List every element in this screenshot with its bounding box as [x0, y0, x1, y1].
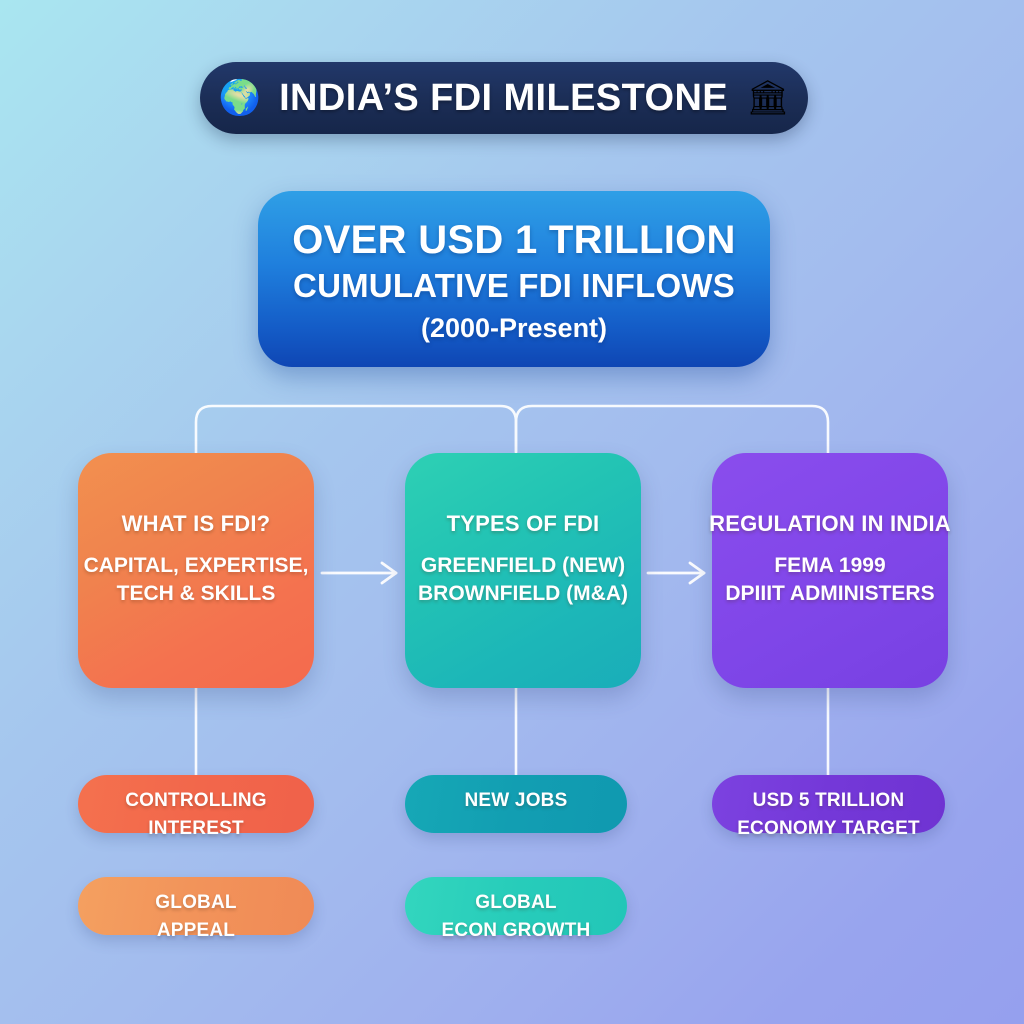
classical-building-icon: 🏛: [746, 81, 789, 115]
card-what-is-fdi[interactable]: WHAT IS FDI? CAPITAL, EXPERTISE, TECH & …: [78, 453, 314, 688]
card-body-line-1: FEMA 1999: [725, 552, 934, 580]
pill-label: GLOBAL APPEAL: [155, 889, 236, 944]
page-title: INDIA’S FDI MILESTONE: [279, 77, 728, 120]
card-body-line-2: TECH & SKILLS: [84, 580, 309, 608]
pill-controlling-interest[interactable]: CONTROLLING INTEREST: [78, 775, 314, 833]
pill-label: USD 5 TRILLION ECONOMY TARGET: [737, 787, 920, 842]
hero-statistic-card: OVER USD 1 TRILLION CUMULATIVE FDI INFLO…: [258, 191, 770, 367]
pill-new-jobs[interactable]: NEW JOBS: [405, 775, 627, 833]
pill-label: NEW JOBS: [465, 787, 568, 815]
card-body-line-1: GREENFIELD (NEW): [418, 552, 628, 580]
title-banner: 🌍 INDIA’S FDI MILESTONE 🏛: [200, 62, 808, 134]
fdi-infographic: 🌍 INDIA’S FDI MILESTONE 🏛 OVER USD 1 TRI…: [0, 0, 1024, 1024]
arrow-teal-to-purple: [648, 563, 704, 583]
card-body: CAPITAL, EXPERTISE, TECH & SKILLS: [84, 552, 309, 608]
pill-label-line-1: GLOBAL: [155, 889, 236, 917]
pill-label-line-1: USD 5 TRILLION: [737, 787, 920, 815]
card-body: FEMA 1999 DPIIIT ADMINISTERS: [725, 552, 934, 608]
card-title: REGULATION IN INDIA: [709, 511, 951, 536]
card-body-line-2: DPIIIT ADMINISTERS: [725, 580, 934, 608]
pill-label: GLOBAL ECON GROWTH: [442, 889, 591, 944]
pill-label-line-1: CONTROLLING: [125, 787, 267, 815]
card-body: GREENFIELD (NEW) BROWNFIELD (M&A): [418, 552, 628, 608]
pill-label-line-2: ECONOMY TARGET: [737, 815, 920, 843]
card-title: WHAT IS FDI?: [122, 511, 271, 536]
pill-label-line-2: APPEAL: [155, 917, 236, 945]
pill-label-line-1: NEW JOBS: [465, 787, 568, 815]
card-regulation-in-india[interactable]: REGULATION IN INDIA FEMA 1999 DPIIIT ADM…: [712, 453, 948, 688]
globe-showing-europe-africa-icon: 🌍: [219, 81, 261, 115]
pill-usd-5-trillion-economy-target[interactable]: USD 5 TRILLION ECONOMY TARGET: [712, 775, 945, 833]
card-title: TYPES OF FDI: [447, 511, 600, 536]
pill-label: CONTROLLING INTEREST: [125, 787, 267, 842]
hero-period: (2000-Present): [421, 312, 607, 344]
hero-headline: OVER USD 1 TRILLION: [292, 218, 736, 263]
pill-label-line-2: ECON GROWTH: [442, 917, 591, 945]
card-body-line-1: CAPITAL, EXPERTISE,: [84, 552, 309, 580]
card-types-of-fdi[interactable]: TYPES OF FDI GREENFIELD (NEW) BROWNFIELD…: [405, 453, 641, 688]
pill-global-econ-growth[interactable]: GLOBAL ECON GROWTH: [405, 877, 627, 935]
hero-subheadline: CUMULATIVE FDI INFLOWS: [293, 266, 735, 306]
pill-label-line-1: GLOBAL: [442, 889, 591, 917]
pill-global-appeal[interactable]: GLOBAL APPEAL: [78, 877, 314, 935]
pill-label-line-2: INTEREST: [125, 815, 267, 843]
card-body-line-2: BROWNFIELD (M&A): [418, 580, 628, 608]
arrow-orange-to-teal: [322, 563, 396, 583]
